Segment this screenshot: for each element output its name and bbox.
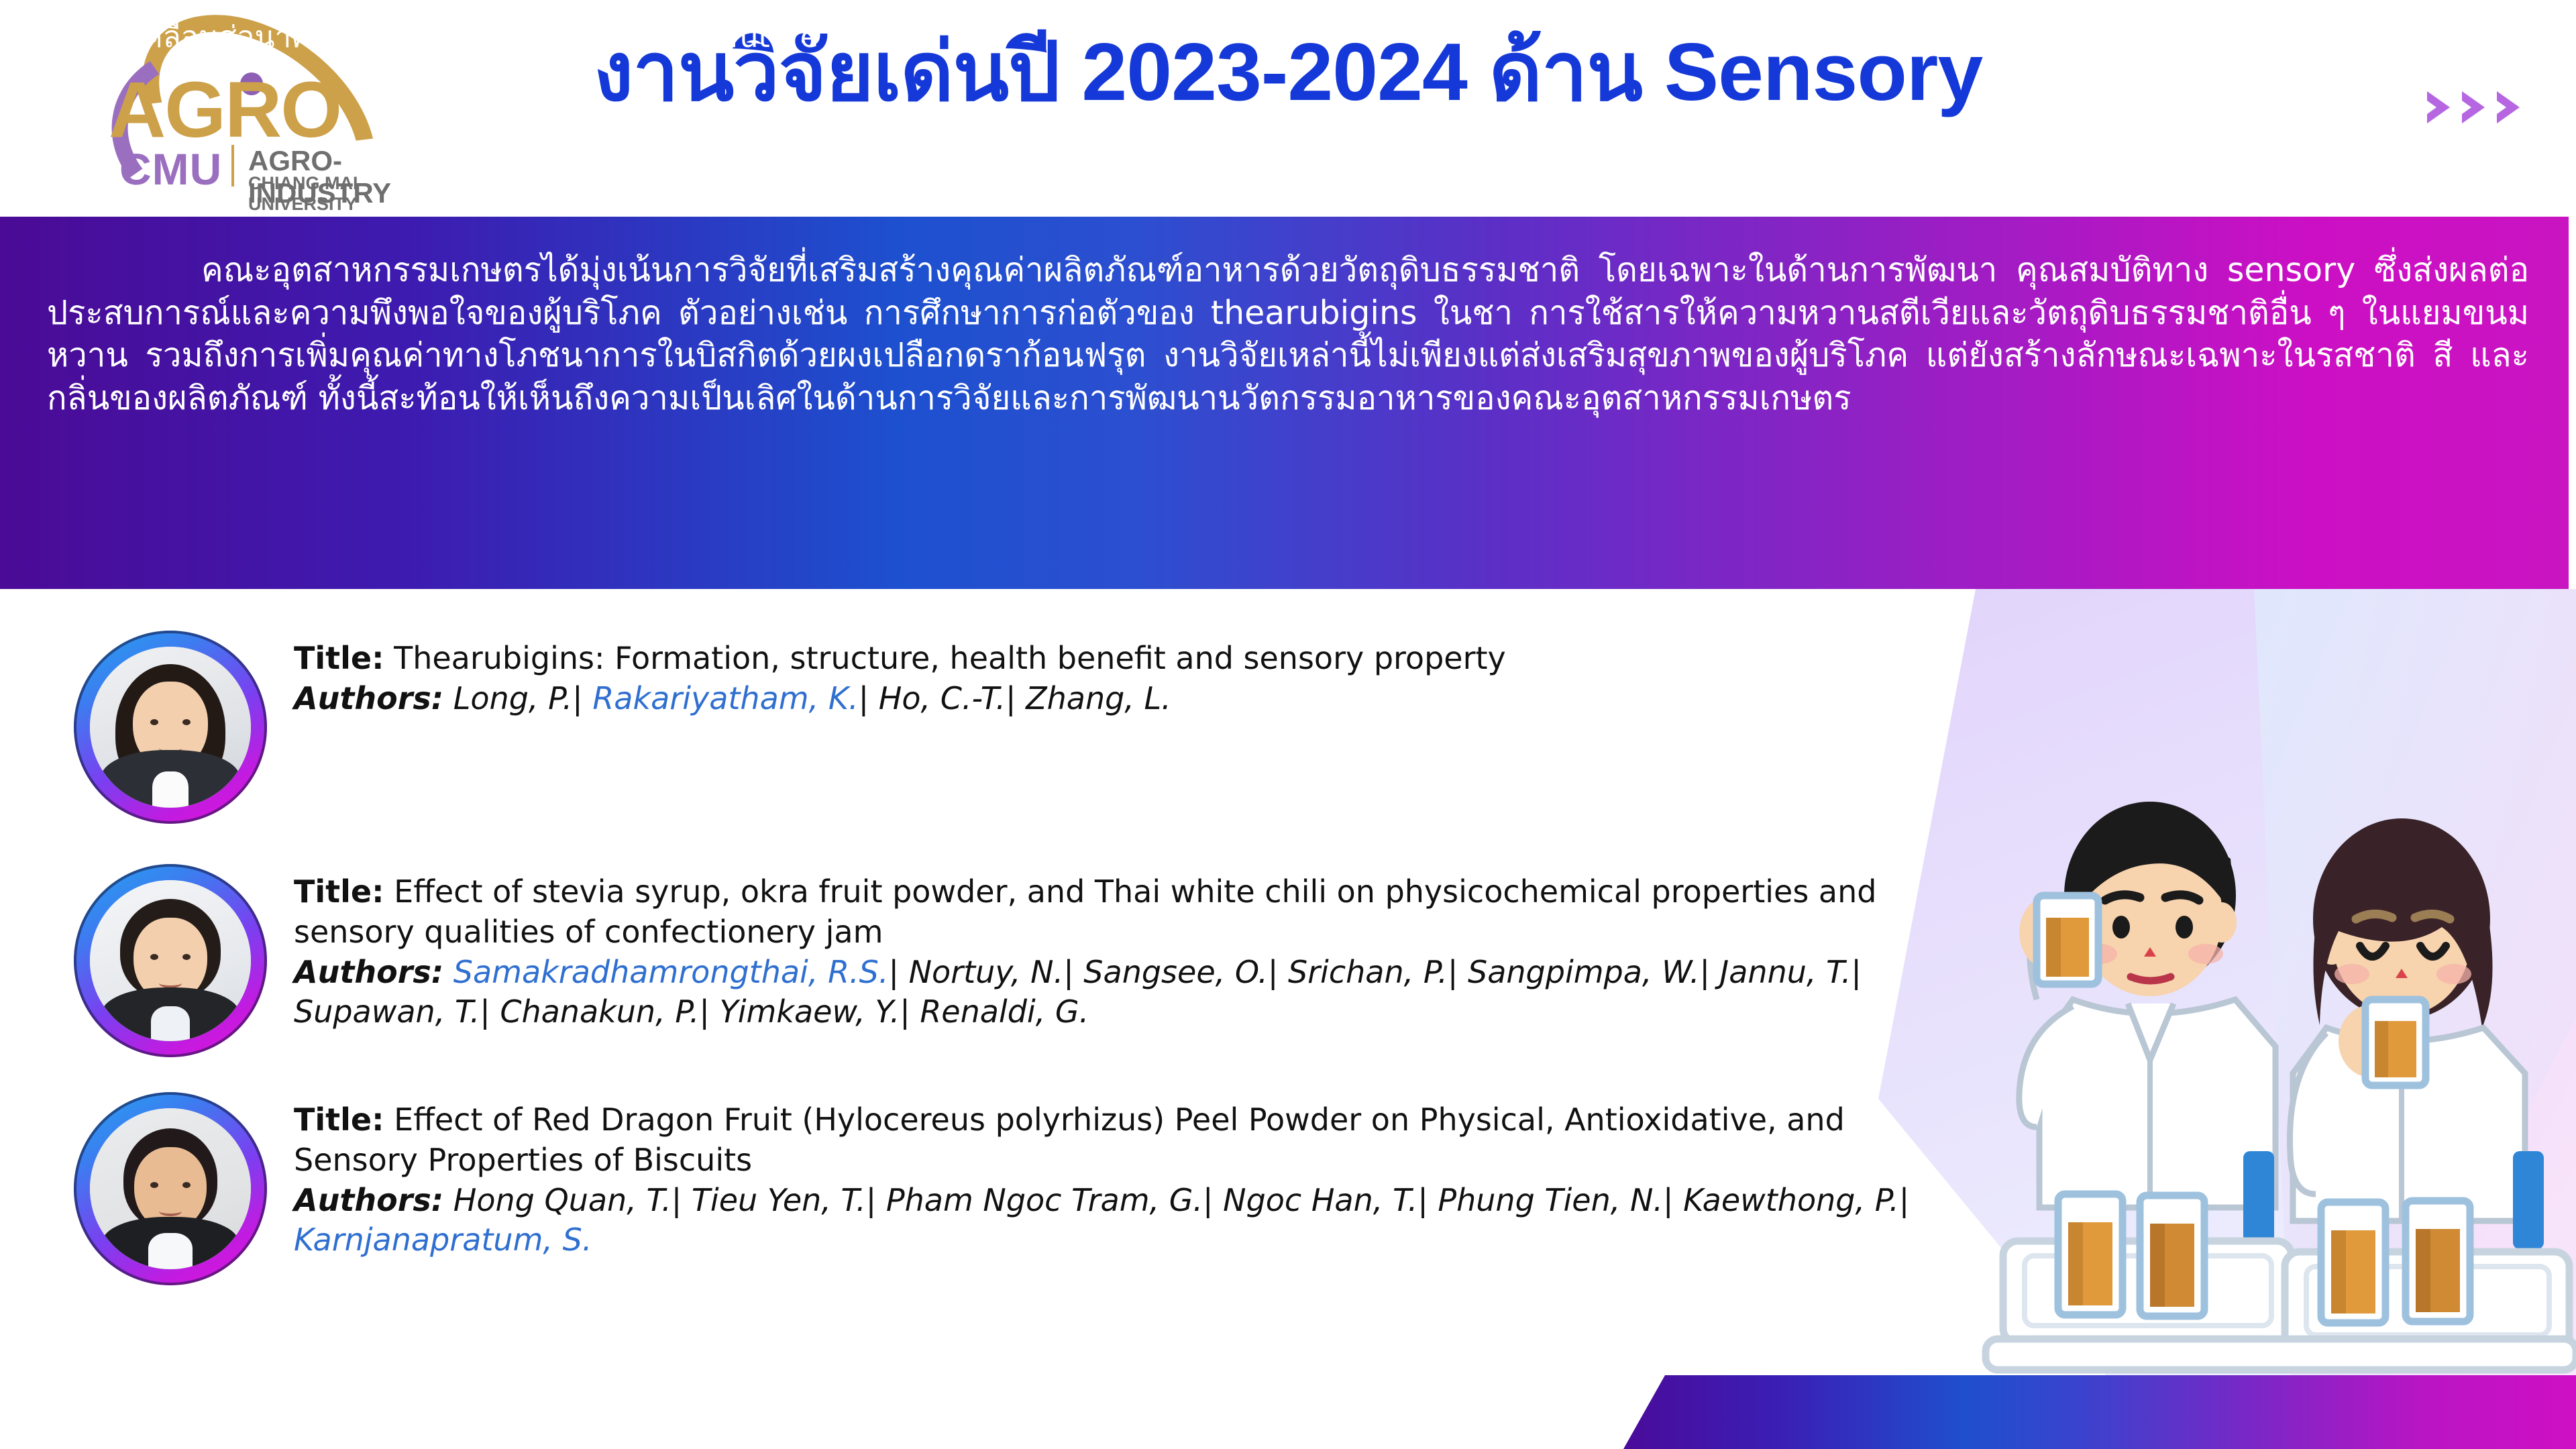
avatar-mouth [159, 978, 182, 988]
publication-title: Effect of stevia syrup, okra fruit powde… [294, 873, 1876, 950]
authors-label: Authors: [294, 680, 443, 716]
male-scientist-icon [2019, 802, 2275, 1207]
publication-list: Title: Thearubigins: Formation, structur… [0, 604, 1945, 1285]
publication-item: Title: Effect of stevia syrup, okra frui… [0, 864, 1945, 1057]
avatar-eye [182, 954, 191, 960]
publication-text: Title: Thearubigins: Formation, structur… [267, 631, 1945, 719]
title-label: Title: [294, 1102, 384, 1138]
avatar-shirt [152, 771, 189, 808]
publication-title: Thearubigins: Formation, structure, heal… [394, 640, 1506, 676]
avatar-image [90, 1108, 251, 1269]
publication-title: Effect of Red Dragon Fruit (Hylocereus p… [294, 1102, 1845, 1178]
publication-authors-line: Authors: Long, P.| Rakariyatham, K.| Ho,… [294, 679, 1945, 719]
title-label: Title: [294, 640, 384, 676]
poster-root: AGRO CMU AGRO-INDUSTRY CHIANG MAI UNIVER… [0, 0, 2576, 1449]
triple-chevron-right-icon [2423, 89, 2524, 126]
authors-label: Authors: [294, 954, 443, 990]
publication-item: Title: Thearubigins: Formation, structur… [0, 631, 1945, 824]
avatar-eye [150, 1182, 158, 1188]
title-label: Title: [294, 873, 384, 910]
authors-pre: Hong Quan, T.| Tieu Yen, T.| Pham Ngoc T… [453, 1182, 1909, 1218]
avatar-eye [182, 1182, 191, 1188]
chevron-right-icon [2458, 89, 2489, 126]
avatar-mouth [159, 1206, 182, 1216]
publication-text: Title: Effect of stevia syrup, okra frui… [267, 864, 1945, 1032]
authors-label: Authors: [294, 1182, 443, 1218]
sensory-taste-test-illustration [1972, 778, 2576, 1382]
illustration-svg [1972, 778, 2576, 1382]
authors-highlight: Karnjanapratum, S. [294, 1222, 592, 1258]
avatar-eye [150, 954, 158, 960]
publication-authors-line: Authors: Samakradhamrongthai, R.S.| Nort… [294, 953, 1945, 1033]
logo-university-text: CHIANG MAI UNIVERSITY [248, 173, 396, 215]
avatar-image [90, 880, 251, 1041]
chevron-right-icon [2423, 89, 2454, 126]
avatar-shirt [148, 1233, 193, 1269]
authors-highlight: Rakariyatham, K. [592, 680, 858, 716]
tagline-text: "ขับเคลื่อนสู่อนาคตที่ดีกว่า Influencing… [80, 0, 832, 74]
logo-divider [231, 145, 234, 186]
avatar-image [90, 647, 251, 808]
authors-highlight: Samakradhamrongthai, R.S. [453, 954, 889, 990]
avatar-author-1 [74, 631, 267, 824]
avatar-eye [150, 719, 158, 725]
publication-title-line: Title: Thearubigins: Formation, structur… [294, 639, 1945, 679]
tagline-banner [1623, 1375, 2576, 1449]
authors-post: | Ho, C.-T.| Zhang, L. [859, 680, 1171, 716]
avatar-author-3 [74, 1092, 267, 1285]
authors-pre: Long, P.| [453, 680, 593, 716]
avatar-author-2 [74, 864, 267, 1057]
intro-paragraph-text: คณะอุตสาหกรรมเกษตรได้มุ่งเน้นการวิจัยที่… [47, 251, 2529, 417]
publication-authors-line: Authors: Hong Quan, T.| Tieu Yen, T.| Ph… [294, 1181, 1945, 1261]
avatar-eye [182, 719, 191, 725]
logo-cmu-text: CMU [119, 144, 222, 195]
female-scientist-icon [2290, 818, 2544, 1249]
publication-title-line: Title: Effect of Red Dragon Fruit (Hyloc… [294, 1100, 1945, 1181]
chevron-right-icon [2493, 89, 2524, 126]
intro-paragraph: คณะอุตสาหกรรมเกษตรได้มุ่งเน้นการวิจัยที่… [47, 249, 2529, 420]
avatar-shirt [151, 1006, 190, 1041]
publication-item: Title: Effect of Red Dragon Fruit (Hyloc… [0, 1092, 1945, 1285]
intro-banner: คณะอุตสาหกรรมเกษตรได้มุ่งเน้นการวิจัยที่… [0, 217, 2569, 589]
publication-text: Title: Effect of Red Dragon Fruit (Hyloc… [267, 1092, 1945, 1260]
publication-title-line: Title: Effect of stevia syrup, okra frui… [294, 872, 1945, 953]
